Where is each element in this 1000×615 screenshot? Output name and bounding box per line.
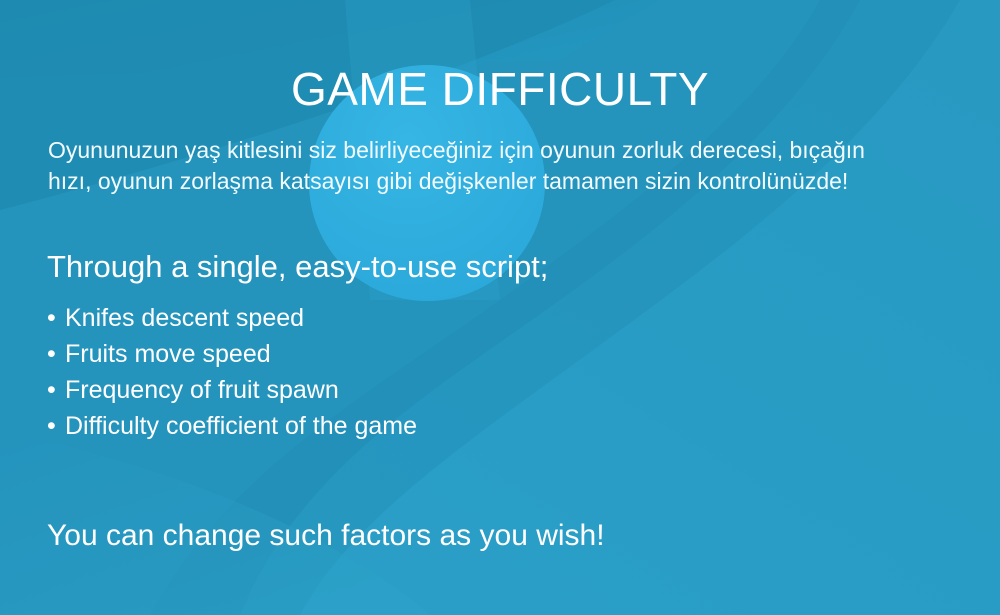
- list-item: •Fruits move speed: [47, 336, 417, 372]
- bullet-icon: •: [47, 300, 65, 336]
- list-item-label: Knifes descent speed: [65, 304, 304, 332]
- intro-paragraph: Oyununuzun yaş kitlesini siz belirliyece…: [48, 135, 908, 197]
- list-item: •Frequency of fruit spawn: [47, 372, 417, 408]
- subheading: Through a single, easy-to-use script;: [47, 250, 548, 284]
- list-item: •Knifes descent speed: [47, 300, 417, 336]
- list-item-label: Difficulty coefficient of the game: [65, 412, 417, 440]
- list-item-label: Fruits move speed: [65, 340, 271, 368]
- list-item-label: Frequency of fruit spawn: [65, 376, 339, 404]
- slide-content: GAME DIFFICULTY Oyununuzun yaş kitlesini…: [0, 0, 1000, 615]
- bullet-icon: •: [47, 372, 65, 408]
- page-title: GAME DIFFICULTY: [0, 65, 1000, 113]
- bullet-icon: •: [47, 408, 65, 444]
- slide-canvas: GAME DIFFICULTY Oyununuzun yaş kitlesini…: [0, 0, 1000, 615]
- list-item: •Difficulty coefficient of the game: [47, 408, 417, 444]
- bullet-icon: •: [47, 336, 65, 372]
- closing-statement: You can change such factors as you wish!: [47, 519, 605, 552]
- feature-list: •Knifes descent speed •Fruits move speed…: [47, 300, 417, 444]
